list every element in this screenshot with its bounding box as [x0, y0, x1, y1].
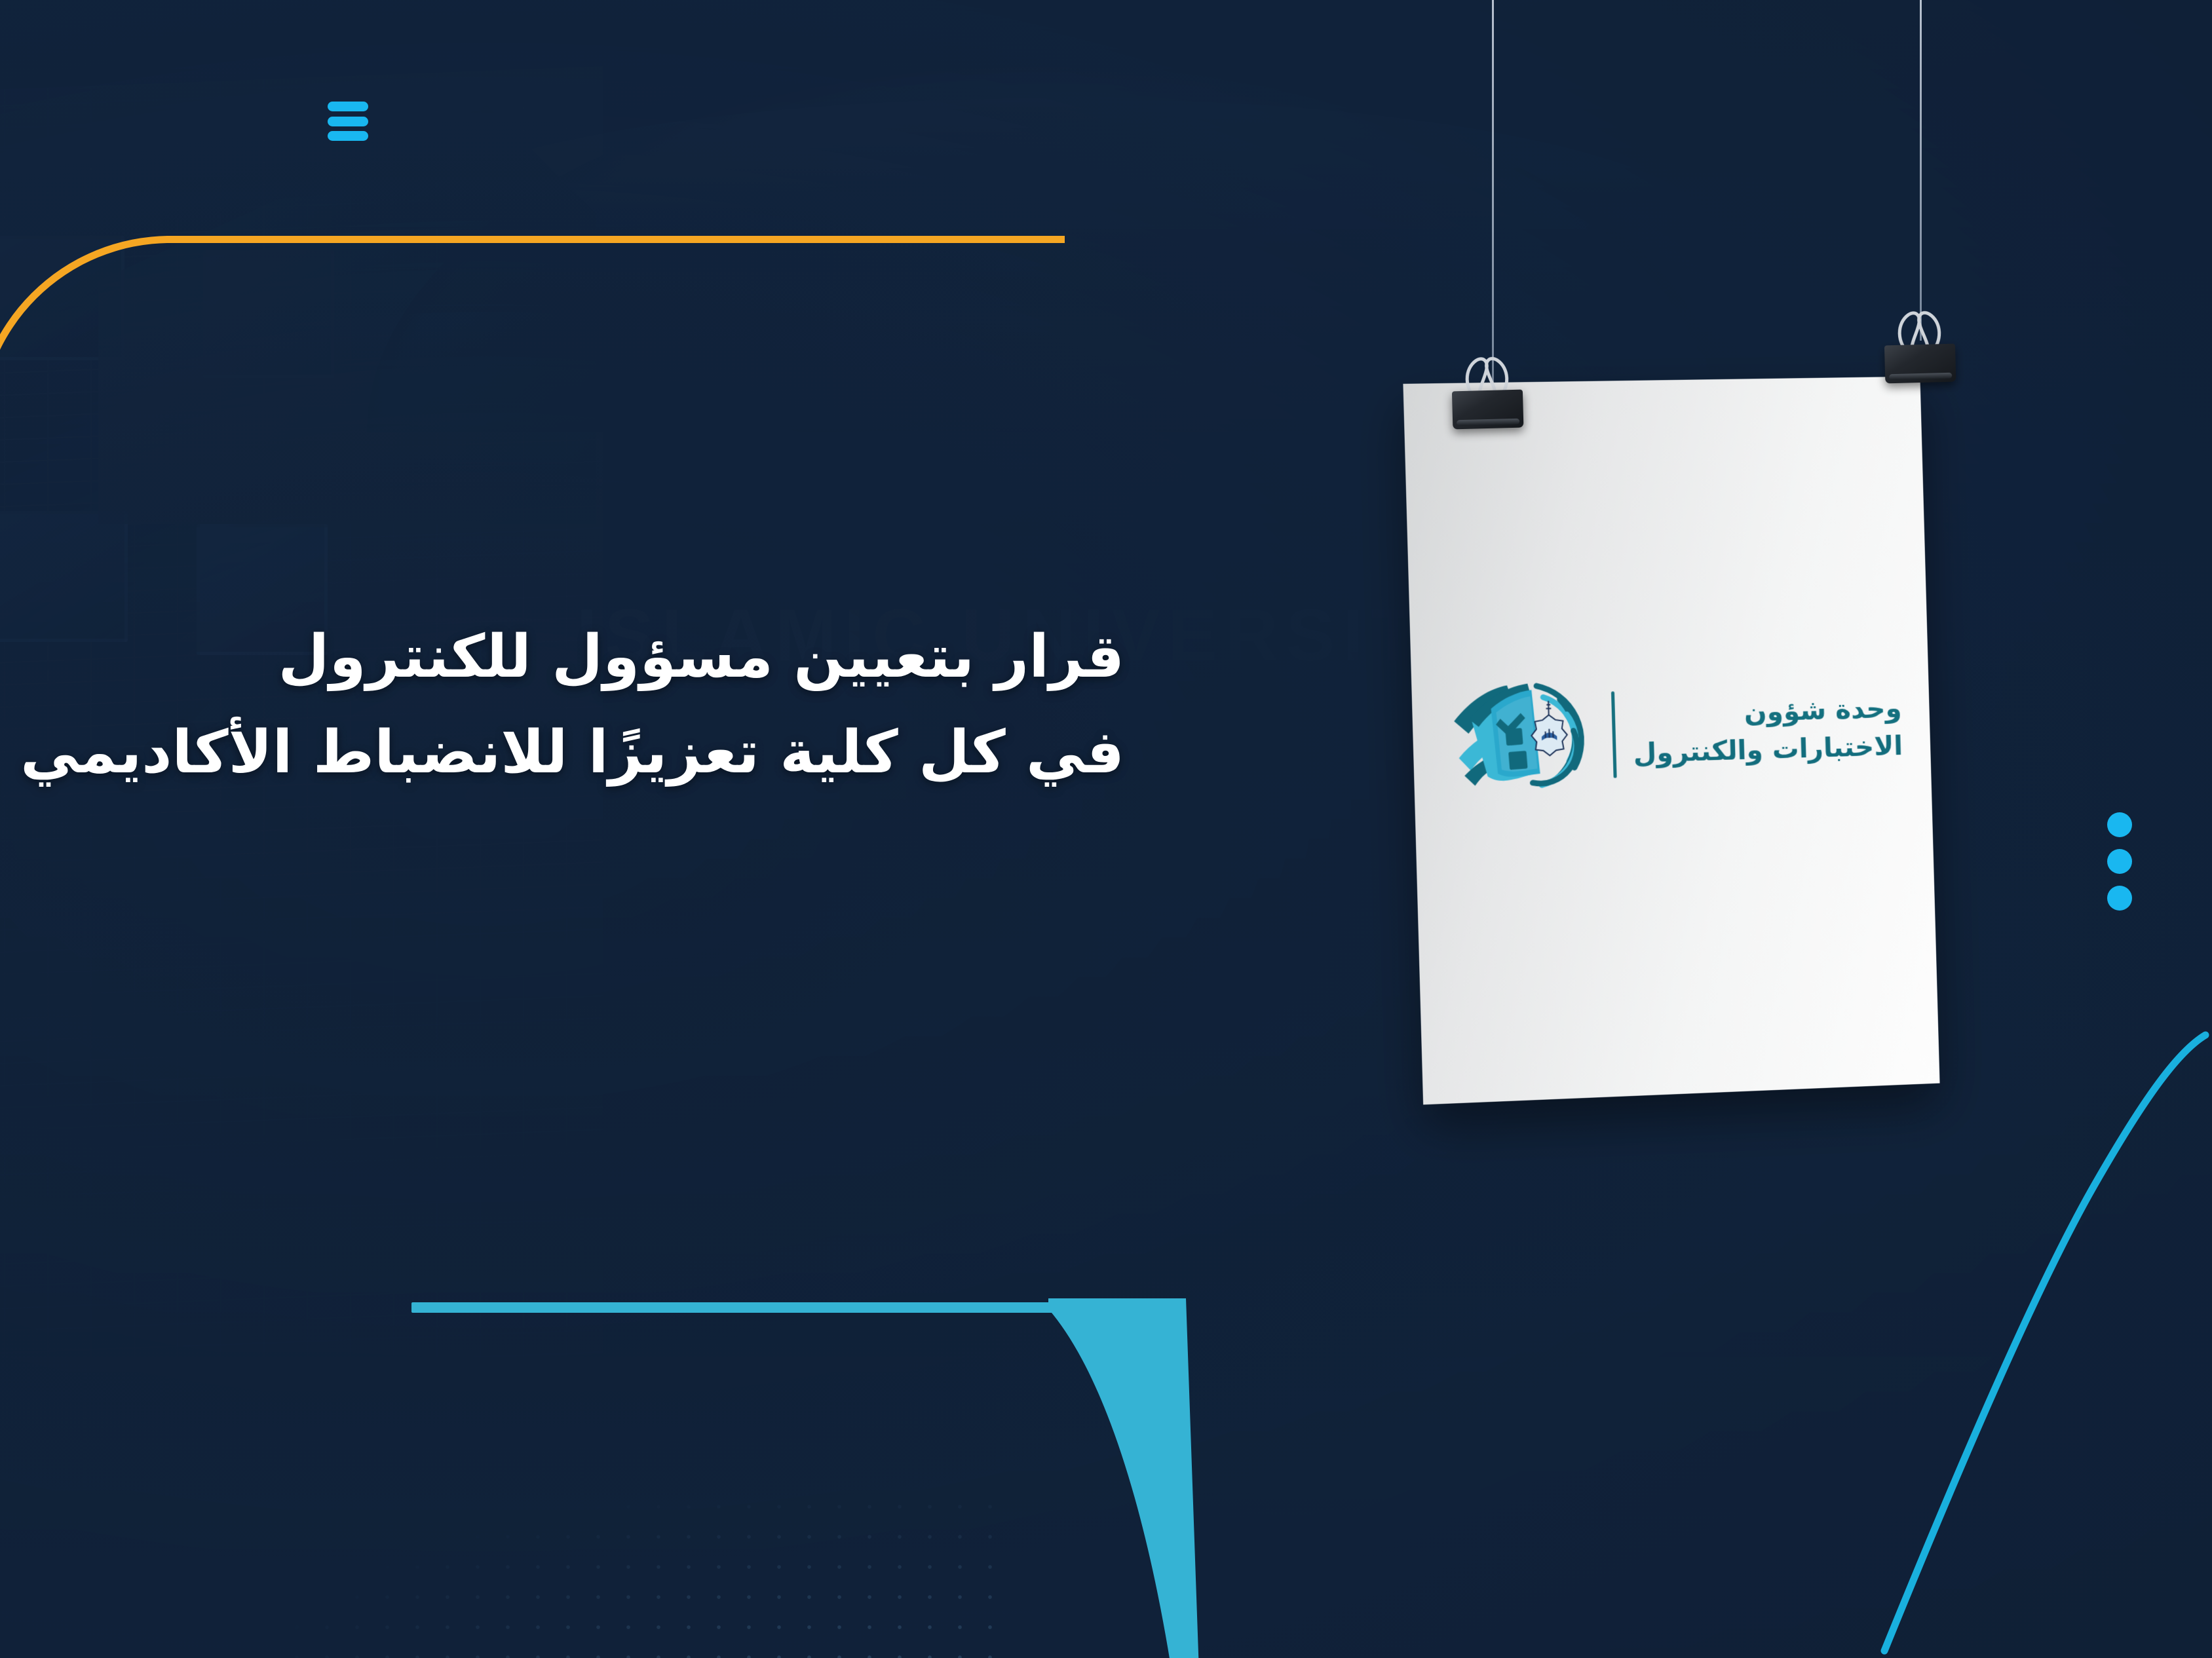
kebab-dot	[2107, 849, 2132, 874]
slide-canvas: ISLAMIC UNIVERSITY OF قرار بتعيين مسؤول …	[0, 0, 2212, 1658]
hamburger-menu-icon[interactable]	[328, 102, 368, 141]
binder-clip-icon	[1447, 352, 1527, 433]
vertical-kebab-icon[interactable]	[2107, 812, 2132, 911]
hamburger-bar	[328, 131, 368, 141]
kebab-dot	[2107, 886, 2132, 911]
dot-grid-pattern	[282, 1461, 1016, 1658]
binder-clip-icon	[1879, 307, 1960, 387]
hamburger-bar	[328, 117, 368, 126]
hamburger-bar	[328, 102, 368, 111]
cyan-curved-swoosh	[1048, 1298, 1324, 1658]
poster-sheet: وحدة شؤون الاختبارات والكنترول	[1403, 377, 1939, 1105]
orange-corner-accent-line	[0, 236, 1065, 445]
logo-text-block: وحدة شؤون الاختبارات والكنترول	[1631, 689, 1903, 772]
binder-clip-body	[1452, 390, 1523, 430]
hanging-string	[1492, 0, 1494, 386]
binder-clip-body	[1884, 344, 1956, 384]
headline-line-2: في كل كلية تعزيزًا للانضباط الأكاديمي	[102, 705, 1124, 801]
hanging-string	[1920, 0, 1922, 341]
headline-line-1: قرار بتعيين مسؤول للكنترول	[102, 609, 1124, 705]
cyan-diagonal-line	[1897, 1022, 2212, 1658]
logo-text-line-2: الاختبارات والكنترول	[1633, 726, 1903, 772]
kebab-dot	[2107, 812, 2132, 837]
unit-logo: وحدة شؤون الاختبارات والكنترول	[1440, 651, 1904, 816]
logo-divider	[1611, 691, 1617, 778]
headline: قرار بتعيين مسؤول للكنترول في كل كلية تع…	[102, 609, 1124, 801]
exam-papers-seal-emblem-icon	[1440, 659, 1597, 816]
